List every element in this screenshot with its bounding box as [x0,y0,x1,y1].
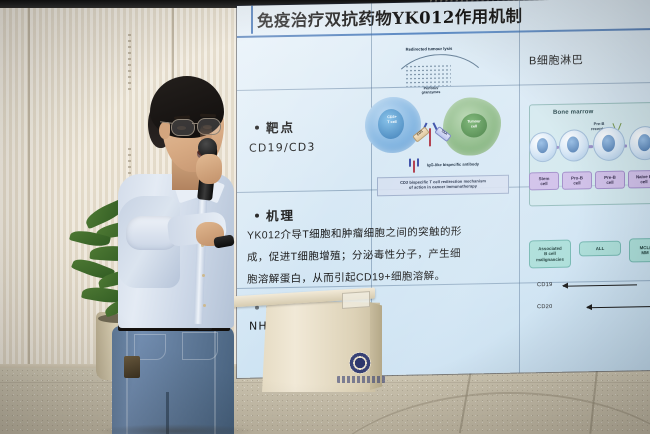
presentation-photo: 免疫治疗双抗药物YK012作用机制 靶点 CD19/CD3 机理 YK012介导… [0,0,650,434]
title-accent-bar [251,6,253,34]
t-cell-label: CD3+ T cell [376,115,408,125]
shirt-button [203,304,206,307]
antibody-stem [429,128,431,146]
diagram-caption: CD3 bispecific T cell redirection mechan… [377,175,509,197]
malignancy-all: ALL [579,241,621,257]
bullet-label-mechanism: 机理 [266,205,295,225]
organization-logo-text [337,376,385,383]
marker-cd19: CD19 [537,282,553,288]
wall-seam [28,8,30,380]
bullet-label-target: 靶点 [266,117,295,137]
legend-antibody-stem [413,161,415,173]
bullet-dot [255,213,259,217]
eyeglasses-bridge [192,123,198,124]
stage-pre-b-cell: Pre-B cell [595,171,625,190]
marker-cd20: CD20 [537,304,553,310]
legend-antibody-arm [417,158,419,166]
presenter-ear [159,122,170,139]
granzyme-particles [405,64,451,87]
legend-antibody-arm [409,159,411,167]
slide-title: 免疫治疗双抗药物YK012作用机制 [257,2,557,34]
bullet-target: 靶点 [255,117,295,137]
wallet-in-pocket [124,356,140,378]
malignancy-mcl-mm: MCL/ MM [629,238,650,263]
b-cell-nucleus [638,134,650,151]
podium-name-plate [342,291,370,309]
cd20-arrow [587,306,650,309]
right-panel-heading: B细胞淋巴 [529,51,583,68]
mechanism-line-1: YK012介导T细胞和肿瘤细胞之间的突触的形 [247,224,462,243]
eyeglasses-left-lens [171,119,195,136]
stage-naive-b-cell: Naive B cell [628,170,650,189]
associated-malignancies-header: Associated B cell malignancies [529,240,571,269]
eyebrow-right [200,114,216,118]
wall-marking [128,34,131,90]
shirt-button [202,274,205,277]
antibody-legend-label: IgG-like bispecific antibody [427,161,507,168]
tumour-cell-label: Tumour cell [456,119,492,129]
cd19-arrow [563,284,637,287]
bullet-mechanism: 机理 [255,205,295,225]
perforin-granzyme-label: Perforin/ granzymes [409,86,453,96]
hand-holding-microphone [196,154,222,184]
target-value: CD19/CD3 [249,140,316,154]
mechanism-line-2: 成，促进T细胞增殖；分泌毒性分子，产生细 [247,246,461,265]
stage-stem-cell: Stem cell [529,172,559,191]
jeans-pocket-right [182,332,218,360]
jeans-seam [126,330,128,434]
diagram-title-redirected-lysis: Redirected tumour lysis [383,45,475,52]
bullet-dot [255,125,259,129]
organization-logo-icon [349,352,371,374]
bone-marrow-title: Bone marrow [553,109,594,116]
stage-pro-b-cell: Pro-B cell [562,171,592,190]
presenter-shadow [96,424,256,434]
